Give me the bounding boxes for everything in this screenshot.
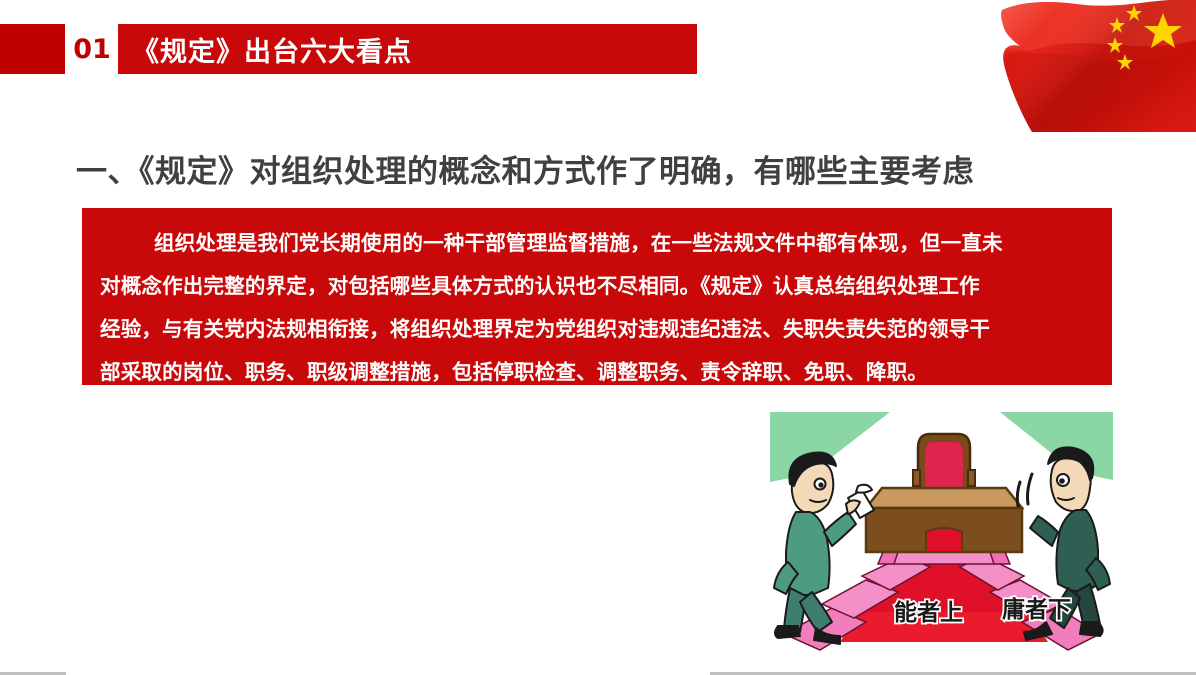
slide: 01 《规定》出台六大看点 <box>0 0 1196 675</box>
illustration-caption-left: 能者上 <box>894 599 963 626</box>
content-line: 对概念作出完整的界定，对包括哪些具体方式的认识也不尽相同。《规定》认真总结组织处… <box>100 265 1094 308</box>
illustration-image: 能者上 庸者下 <box>770 412 1113 657</box>
chinese-flag-icon <box>980 0 1196 132</box>
header-banner-title: 《规定》出台六大看点 <box>132 24 412 74</box>
header-accent-block <box>0 24 65 74</box>
header-banner: 《规定》出台六大看点 <box>118 24 697 74</box>
content-line: 组织处理是我们党长期使用的一种干部管理监督措施，在一些法规文件中都有体现，但一直… <box>100 222 1094 265</box>
content-line: 经验，与有关党内法规相衔接，将组织处理界定为党组织对违规违纪违法、失职失责失范的… <box>100 308 1094 351</box>
section-heading: 一、《规定》对组织处理的概念和方式作了明确，有哪些主要考虑 <box>76 146 1176 191</box>
content-box: 组织处理是我们党长期使用的一种干部管理监督措施，在一些法规文件中都有体现，但一直… <box>82 208 1112 385</box>
header-section-number: 01 <box>68 24 116 74</box>
content-line: 部采取的岗位、职务、职级调整措施，包括停职检查、调整职务、责令辞职、免职、降职。 <box>100 351 1094 394</box>
illustration-caption-right: 庸者下 <box>1002 596 1071 623</box>
